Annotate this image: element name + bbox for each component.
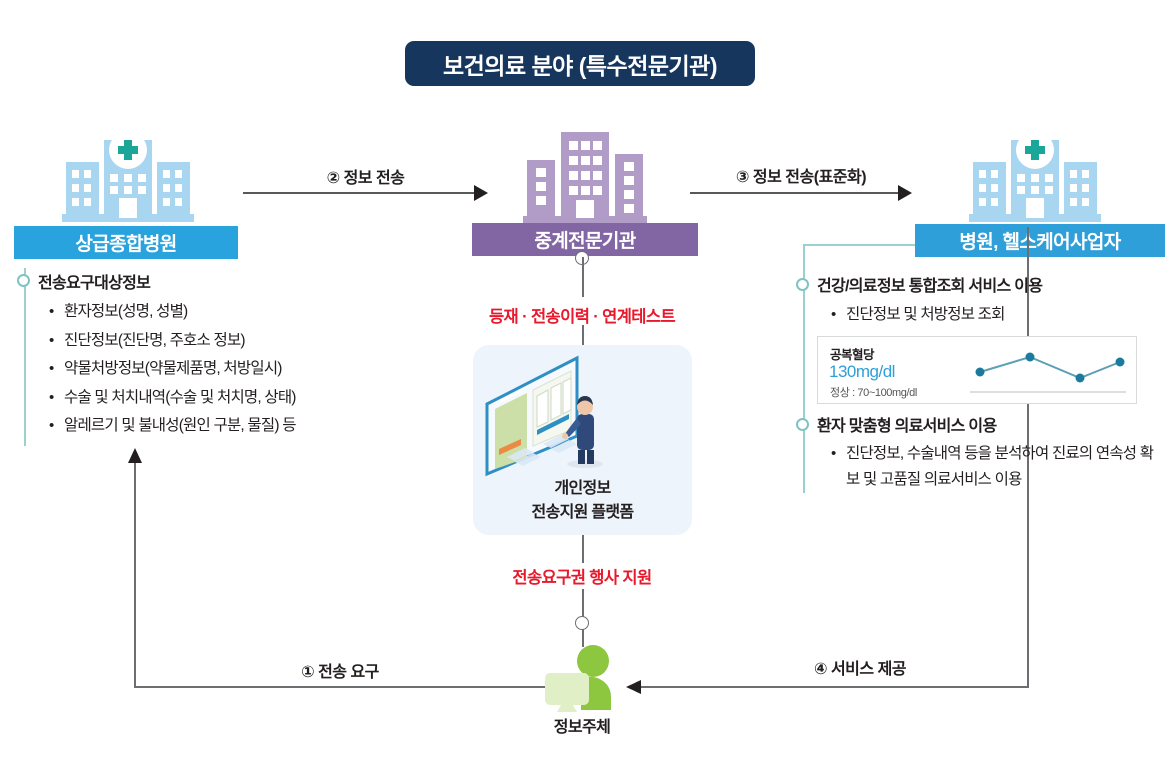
platform-caption-line1: 개인정보 bbox=[473, 477, 692, 501]
right-panel-list-2: 진단정보, 수술내역 등을 분석하여 진료의 연속성 확보 및 고품질 의료서비… bbox=[830, 441, 1160, 493]
hospital-icon bbox=[58, 128, 198, 228]
data-subject-caption: 정보주체 bbox=[492, 713, 672, 737]
left-panel-list: 환자정보(성명, 성별) 진단정보(진단명, 주호소 정보) 약물처방정보(약물… bbox=[48, 298, 398, 441]
flow-label-step4: ④ 서비스 제공 bbox=[700, 655, 1020, 679]
right-panel-heading-2: 환자 맞춤형 의료서비스 이용 bbox=[817, 412, 996, 436]
connector-line-center-a bbox=[582, 257, 584, 297]
glucose-card-normal-range: 정상 : 70~100mg/dl bbox=[830, 384, 917, 400]
right-panel-list-1: 진단정보 및 처방정보 조회 bbox=[830, 301, 1150, 330]
list-item: 진단정보(진단명, 주호소 정보) bbox=[48, 327, 398, 356]
glucose-card-value: 130mg/dl bbox=[829, 362, 895, 382]
platform-caption-line2: 전송지원 플랫폼 bbox=[473, 501, 692, 525]
left-panel-heading: 전송요구대상정보 bbox=[38, 269, 150, 293]
list-item: 환자정보(성명, 성별) bbox=[48, 298, 398, 327]
office-buildings-icon bbox=[523, 128, 647, 228]
flow-arrow-step3 bbox=[690, 182, 912, 204]
list-item: 약물처방정보(약물제품명, 처방일시) bbox=[48, 355, 398, 384]
page-title-badge: 보건의료 분야 (특수전문기관) bbox=[405, 41, 755, 86]
connector-dot-center-bottom bbox=[575, 616, 589, 630]
node-label-text: 상급종합병원 bbox=[75, 229, 176, 256]
center-red-label-bottom: 전송요구권 행사 지원 bbox=[432, 564, 732, 588]
center-red-label-top: 등재 · 전송이력 · 연계테스트 bbox=[432, 303, 732, 327]
connector-dot-right-a bbox=[796, 278, 809, 291]
flow-label-step1: ① 전송 요구 bbox=[170, 658, 510, 682]
connector-line-left bbox=[24, 268, 26, 446]
node-label-tertiary-hospital: 상급종합병원 bbox=[14, 226, 238, 259]
glucose-card-label: 공복혈당 bbox=[830, 344, 874, 363]
connector-dot-left bbox=[17, 274, 30, 287]
person-monitor-icon bbox=[541, 645, 625, 712]
platform-dashboard-illustration bbox=[481, 352, 631, 482]
glucose-summary-card: 공복혈당 130mg/dl 정상 : 70~100mg/dl bbox=[817, 336, 1137, 404]
hospital-icon bbox=[965, 128, 1105, 228]
connector-line-right-top bbox=[803, 244, 915, 246]
connector-line-center-c bbox=[582, 535, 584, 563]
connector-dot-right-b bbox=[796, 418, 809, 431]
list-item: 진단정보 및 처방정보 조회 bbox=[830, 301, 1150, 330]
flow-arrow-step2 bbox=[243, 182, 488, 204]
list-item: 알레르기 및 불내성(원인 구분, 물질) 등 bbox=[48, 412, 398, 441]
list-item: 수술 및 처치내역(수술 및 처치명, 상태) bbox=[48, 384, 398, 413]
platform-caption: 개인정보 전송지원 플랫폼 bbox=[473, 477, 692, 525]
list-item: 진단정보, 수술내역 등을 분석하여 진료의 연속성 확보 및 고품질 의료서비… bbox=[830, 441, 1160, 493]
data-subject-label: 정보주체 bbox=[554, 719, 610, 736]
page-title: 보건의료 분야 (특수전문기관) bbox=[443, 47, 717, 81]
connector-line-center-d bbox=[582, 589, 584, 619]
diagram-canvas: 보건의료 분야 (특수전문기관) bbox=[0, 0, 1165, 758]
right-panel-heading-1: 건강/의료정보 통합조회 서비스 이용 bbox=[817, 272, 1042, 296]
glucose-line-chart bbox=[968, 342, 1128, 398]
